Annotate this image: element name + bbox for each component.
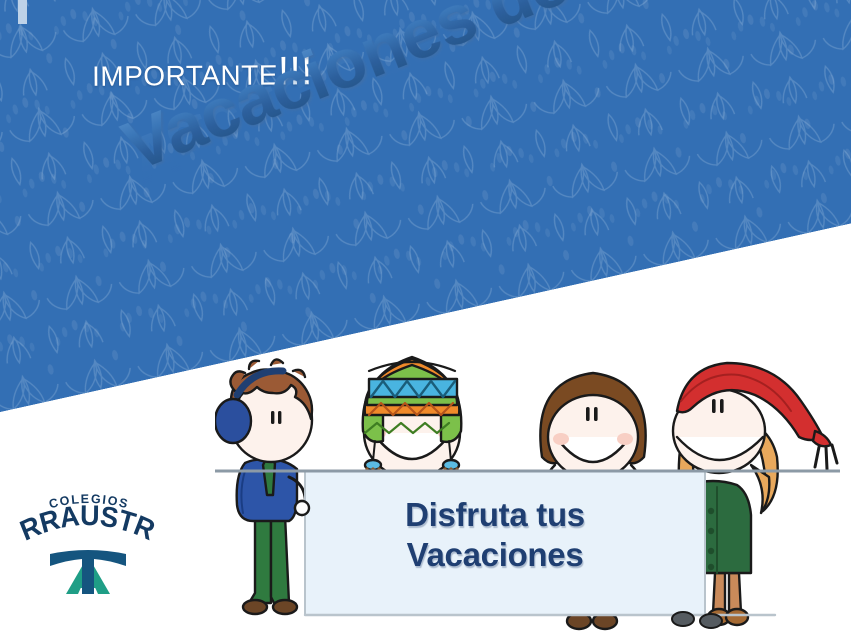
ta-monogram-icon bbox=[50, 550, 126, 594]
children-illustration bbox=[215, 345, 840, 636]
child-knit-hat bbox=[363, 357, 462, 487]
child-boy-earmuffs bbox=[215, 359, 312, 614]
svg-text:TERRAUSTRAL: TERRAUSTRAL bbox=[16, 470, 159, 547]
corner-accent-mark bbox=[18, 0, 27, 24]
terraustral-logo: COLEGIOS TERRAUSTRAL bbox=[16, 470, 161, 600]
eyebrow-heading: Importante!!! bbox=[92, 49, 313, 96]
slide-canvas: Importante!!! Vacaciones de Invierno Vac… bbox=[0, 0, 851, 636]
